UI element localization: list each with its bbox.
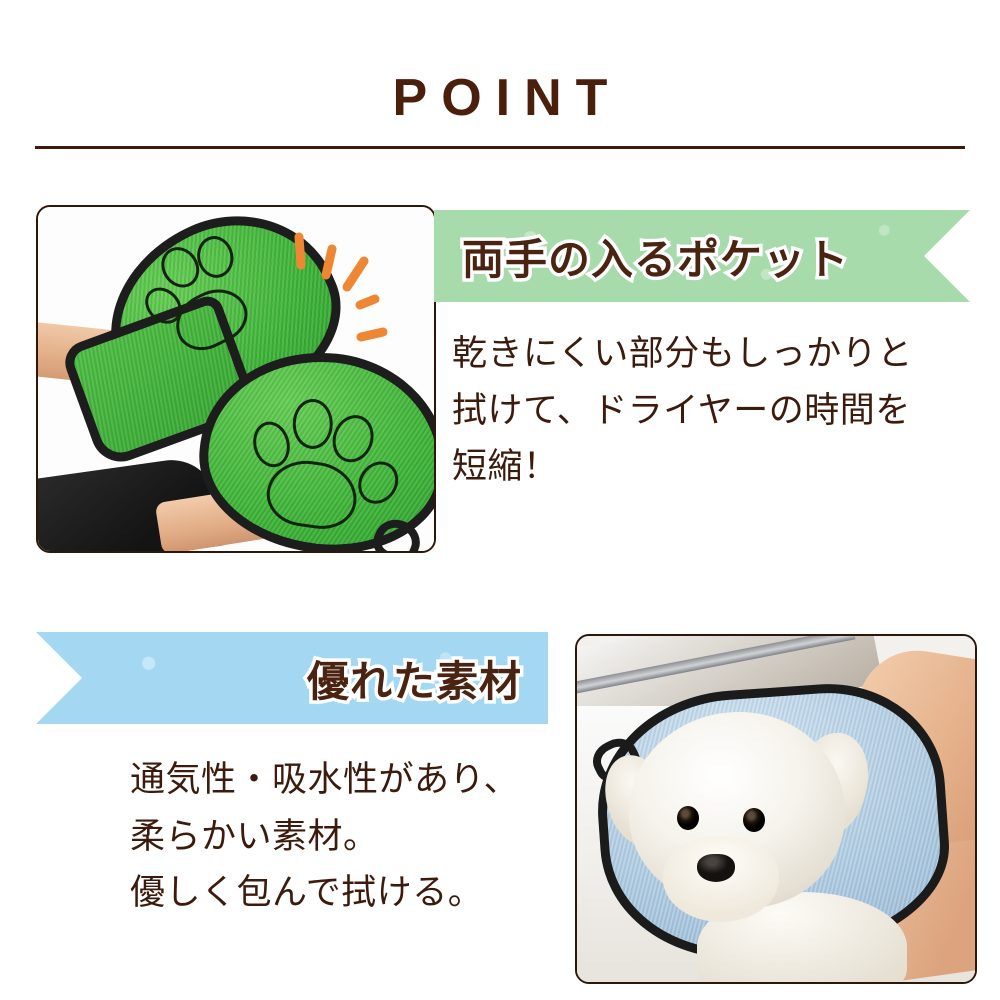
banner-notch-right <box>924 210 970 302</box>
mitts-scene <box>38 207 434 551</box>
sparkle-lines-icon <box>278 229 408 359</box>
paw-print-icon <box>242 385 408 533</box>
dog-nose <box>697 854 735 882</box>
page-title: POINT <box>0 72 1000 124</box>
banner-pocket: 両手の入るポケット <box>434 210 970 302</box>
body-text-pocket: 乾きにくい部分もしっかりと 拭けて、ドライヤーの時間を 短縮！ <box>452 326 972 496</box>
banner-notch-left <box>36 632 82 724</box>
dog-scene <box>577 636 975 982</box>
banner-material: 優れた素材 <box>36 632 548 724</box>
banner-material-label: 優れた素材 <box>307 648 522 709</box>
title-divider <box>35 146 965 149</box>
dog-eye-right <box>743 808 765 832</box>
photo-green-mitts <box>36 205 436 553</box>
dog-eye-left <box>677 806 699 830</box>
body-text-material: 通気性・吸水性があり、 柔らかい素材。 優しく包んで拭ける。 <box>130 752 570 922</box>
banner-pocket-label: 両手の入るポケット <box>462 226 849 287</box>
photo-dog-in-towel <box>575 634 977 984</box>
